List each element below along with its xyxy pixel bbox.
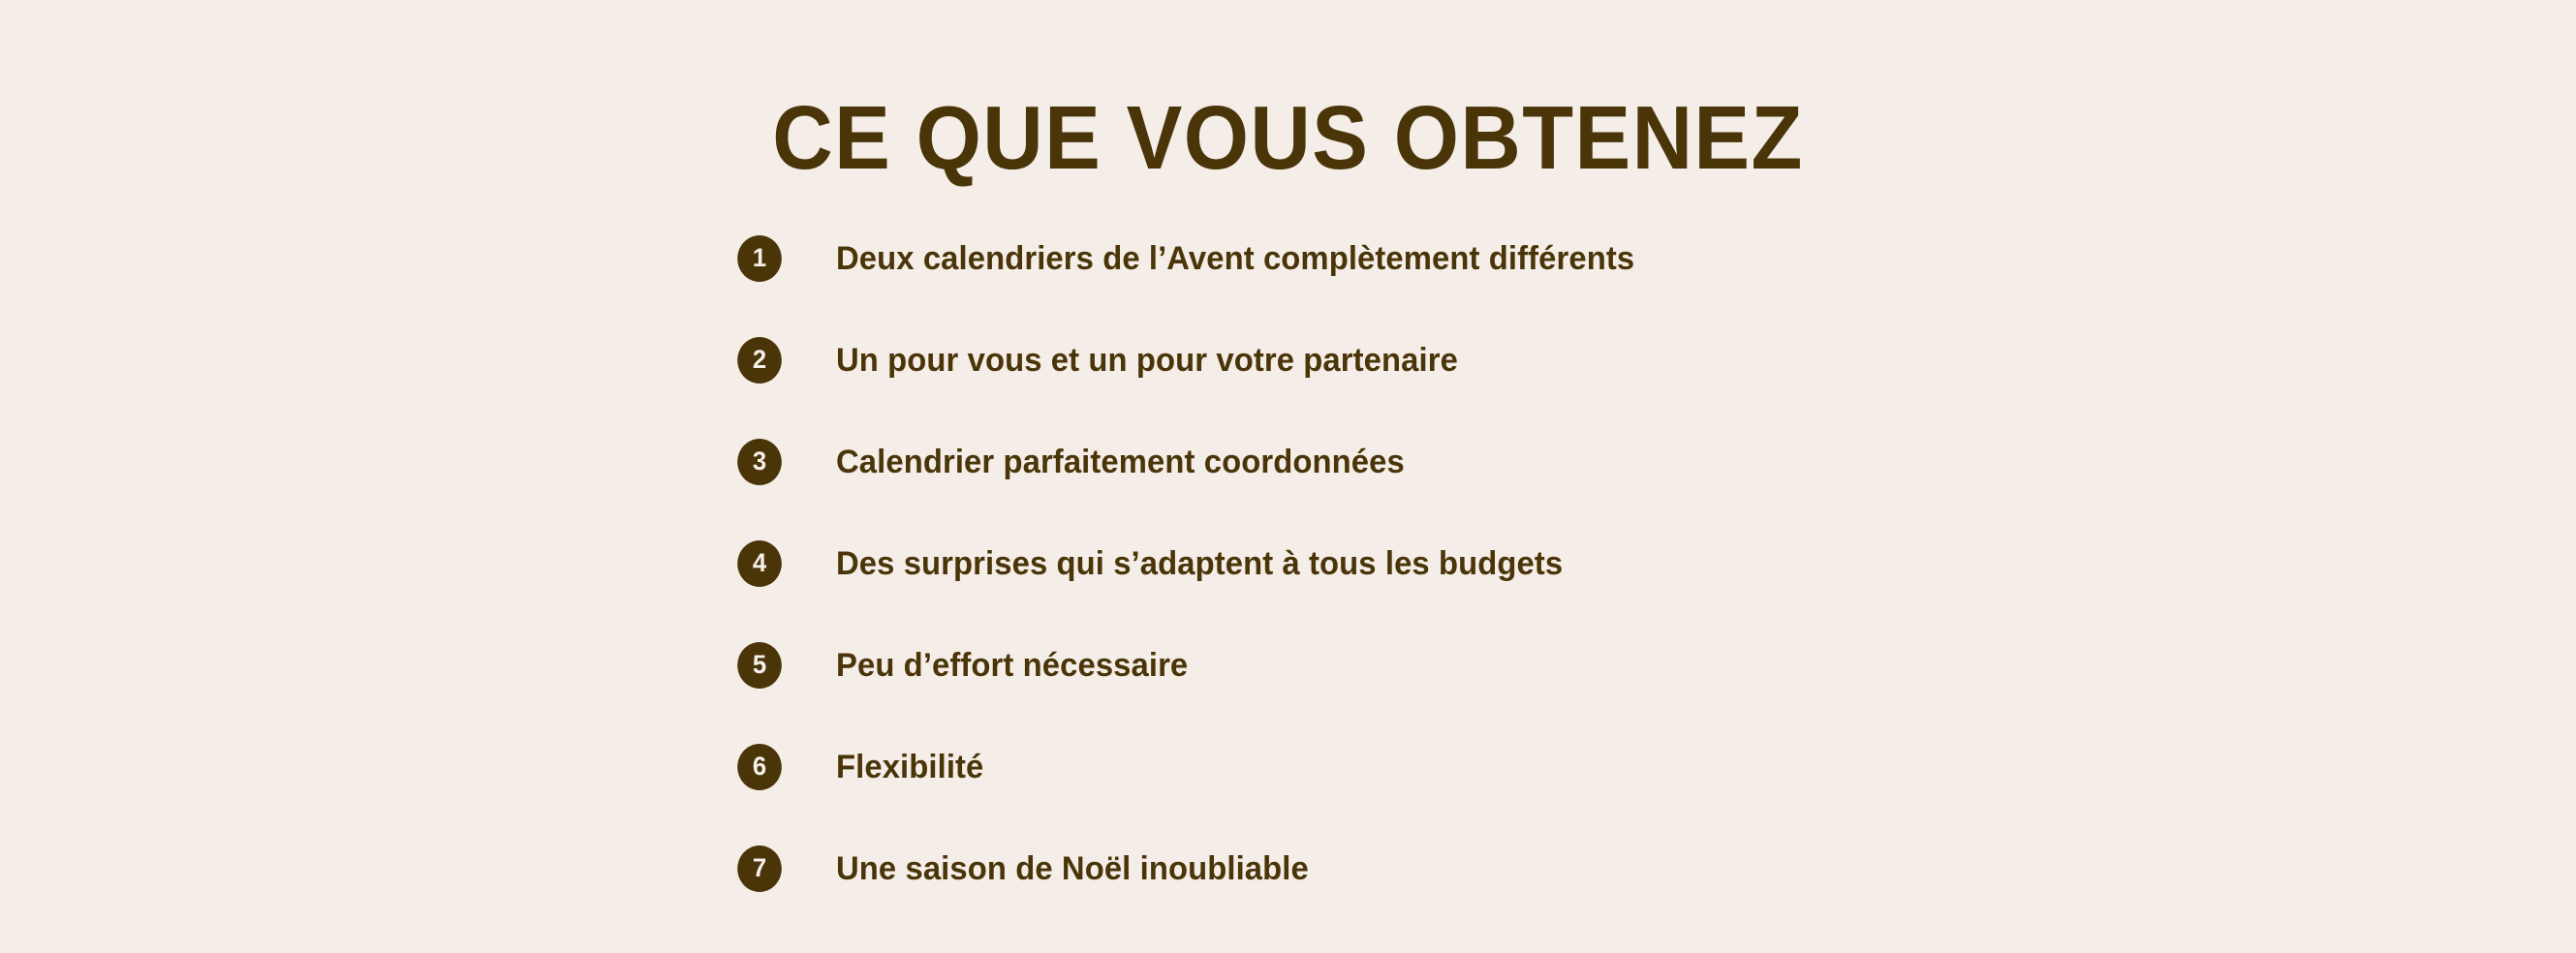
list-item: 2 Un pour vous et un pour votre partenai…	[736, 337, 2383, 384]
benefit-label: Flexibilité	[836, 744, 983, 790]
list-item: 7 Une saison de Noël inoubliable	[736, 845, 2383, 892]
benefit-number-badge: 2	[737, 337, 782, 384]
page-title: CE QUE VOUS OBTENEZ	[90, 87, 2486, 188]
benefit-number-badge: 4	[737, 540, 782, 587]
list-item: 1 Deux calendriers de l’Avent complèteme…	[736, 235, 2383, 282]
benefit-number-badge: 7	[737, 845, 782, 892]
benefit-label: Peu d’effort nécessaire	[836, 642, 1188, 689]
benefit-label: Une saison de Noël inoubliable	[836, 845, 1309, 892]
benefits-section: CE QUE VOUS OBTENEZ 1 Deux calendriers d…	[0, 0, 2576, 953]
benefit-number-badge: 5	[737, 642, 782, 689]
list-item: 5 Peu d’effort nécessaire	[736, 642, 2383, 689]
benefit-label: Deux calendriers de l’Avent complètement…	[836, 235, 1634, 282]
benefits-list: 1 Deux calendriers de l’Avent complèteme…	[736, 235, 2383, 892]
benefit-label: Calendrier parfaitement coordonnées	[836, 439, 1405, 485]
benefit-label: Des surprises qui s’adaptent à tous les …	[836, 540, 1563, 587]
benefit-number-badge: 6	[737, 744, 782, 790]
benefit-label: Un pour vous et un pour votre partenaire	[836, 337, 1458, 384]
list-item: 3 Calendrier parfaitement coordonnées	[736, 439, 2383, 485]
list-item: 6 Flexibilité	[736, 744, 2383, 790]
benefit-number-badge: 1	[737, 235, 782, 282]
benefit-number-badge: 3	[737, 439, 782, 485]
list-item: 4 Des surprises qui s’adaptent à tous le…	[736, 540, 2383, 587]
